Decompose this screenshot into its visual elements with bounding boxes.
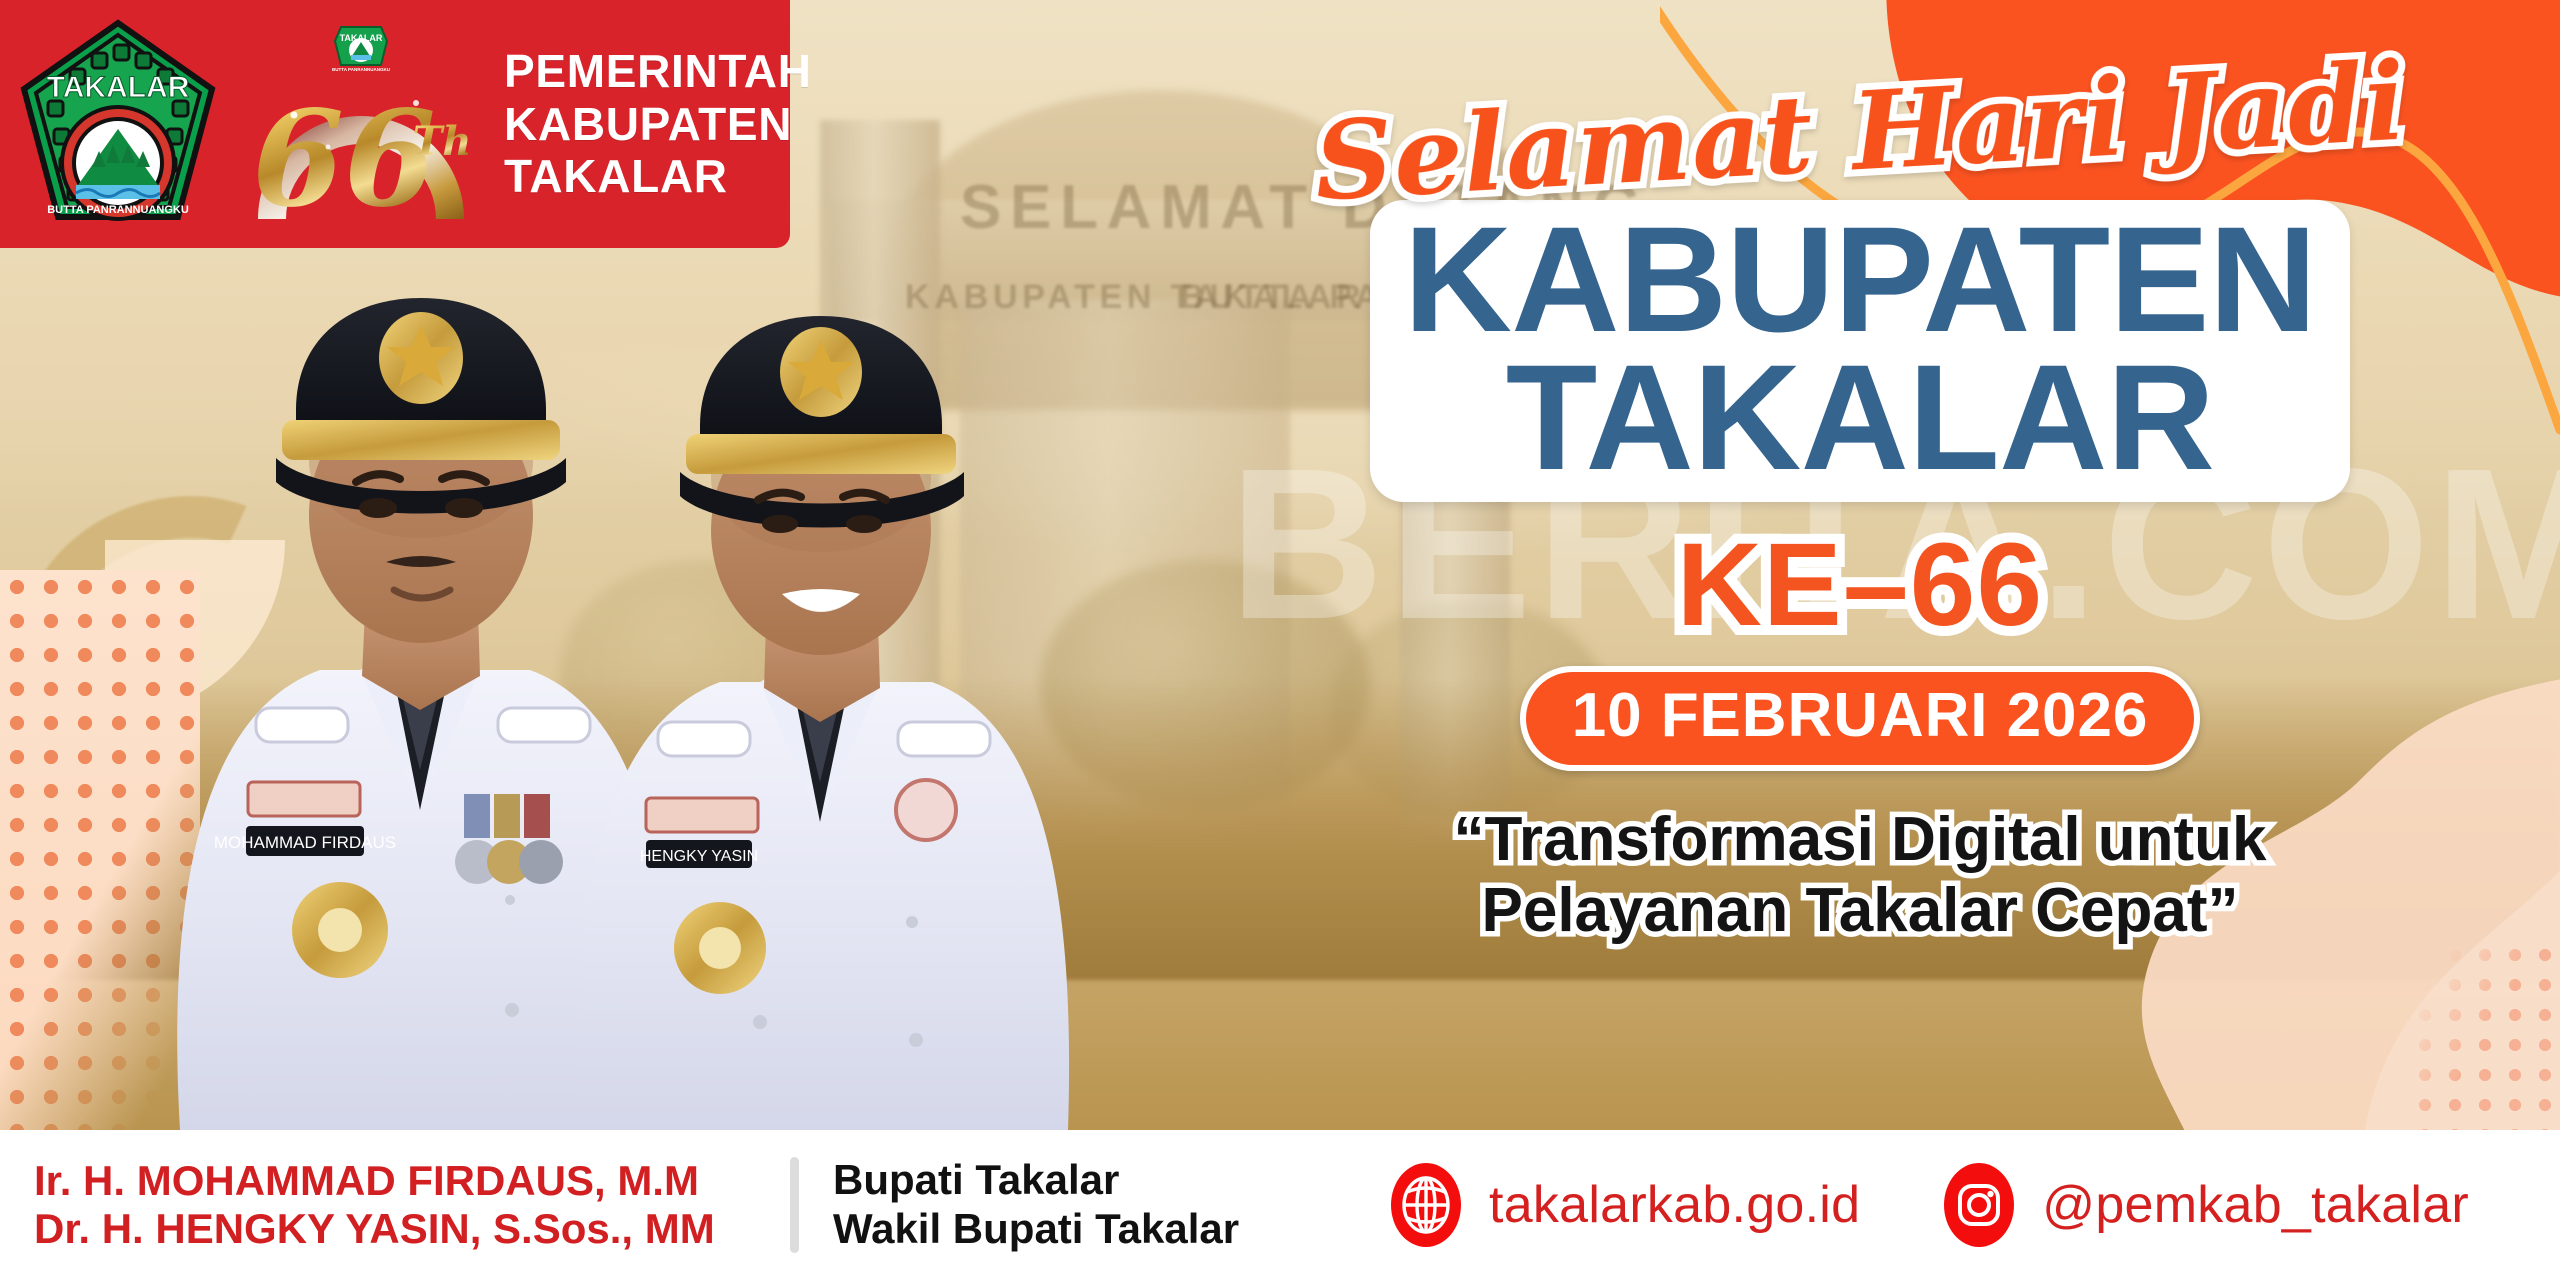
footer-divider xyxy=(790,1157,799,1253)
website-contact[interactable]: takalarkab.go.id xyxy=(1389,1162,1860,1248)
tagline-line-1: “Transformasi Digital untuk xyxy=(1453,805,2266,876)
official-name-1: Ir. H. MOHAMMAD FIRDAUS, M.M xyxy=(34,1157,790,1205)
anniversary-66-emblem: TAKALAR BUTTA PANRANNUANGKU 66 Th xyxy=(236,19,486,229)
website-text: takalarkab.go.id xyxy=(1489,1175,1860,1235)
tagline-line-2: Pelayanan Takalar Cepat” xyxy=(1453,876,2266,947)
svg-text:TAKALAR: TAKALAR xyxy=(47,71,190,104)
official-role-2: Wakil Bupati Takalar xyxy=(833,1205,1389,1254)
svg-text:Th: Th xyxy=(413,118,472,165)
instagram-text: @pemkab_takalar xyxy=(2042,1175,2469,1235)
title-line-2: TAKALAR xyxy=(1404,348,2317,486)
official-names: Ir. H. MOHAMMAD FIRDAUS, M.M Dr. H. HENG… xyxy=(0,1157,790,1253)
anniversary-banner: SELAMAT DATANG KABUPATEN TAKALAR BUTTA P… xyxy=(0,0,2560,1280)
gov-line-3: TAKALAR xyxy=(504,150,812,202)
gov-line-2: KABUPATEN xyxy=(504,98,812,150)
government-header-tab: TAKALAR BUTTA PANRANNUANGKU xyxy=(0,0,790,248)
instagram-icon xyxy=(1942,1162,2016,1248)
halftone-dots-right xyxy=(2410,940,2560,1130)
title-line-1: KABUPATEN xyxy=(1404,210,2317,348)
svg-text:MOHAMMAD FIRDAUS: MOHAMMAD FIRDAUS xyxy=(214,833,396,852)
hero-content: Selamat Hari Jadi KABUPATEN TAKALAR KE–6… xyxy=(1220,78,2500,946)
official-name-2: Dr. H. HENGKY YASIN, S.Sos., MM xyxy=(34,1205,790,1253)
footer-bar: Ir. H. MOHAMMAD FIRDAUS, M.M Dr. H. HENG… xyxy=(0,1130,2560,1280)
gov-line-1: PEMERINTAH xyxy=(504,45,812,97)
event-date-badge: 10 FEBRUARI 2026 xyxy=(1520,666,2201,771)
title-plate: KABUPATEN TAKALAR xyxy=(1370,200,2351,502)
globe-icon xyxy=(1389,1162,1463,1248)
svg-text:66: 66 xyxy=(252,82,436,229)
officials-photo: MOHAMMAD FIRDAUS xyxy=(60,110,1170,1130)
tagline: “Transformasi Digital untuk Pelayanan Ta… xyxy=(1453,805,2266,946)
svg-text:HENGKY YASIN: HENGKY YASIN xyxy=(640,848,758,865)
svg-text:BUTTA PANRANNUANGKU: BUTTA PANRANNUANGKU xyxy=(332,67,390,72)
ordinal-text: KE–66 xyxy=(1677,526,2044,644)
svg-text:BUTTA PANRANNUANGKU: BUTTA PANRANNUANGKU xyxy=(47,204,189,216)
official-roles: Bupati Takalar Wakil Bupati Takalar xyxy=(799,1156,1389,1253)
instagram-contact[interactable]: @pemkab_takalar xyxy=(1942,1162,2469,1248)
official-role-1: Bupati Takalar xyxy=(833,1156,1389,1205)
takalar-crest-icon: TAKALAR BUTTA PANRANNUANGKU xyxy=(18,17,218,232)
government-name: PEMERINTAH KABUPATEN TAKALAR xyxy=(504,45,812,202)
